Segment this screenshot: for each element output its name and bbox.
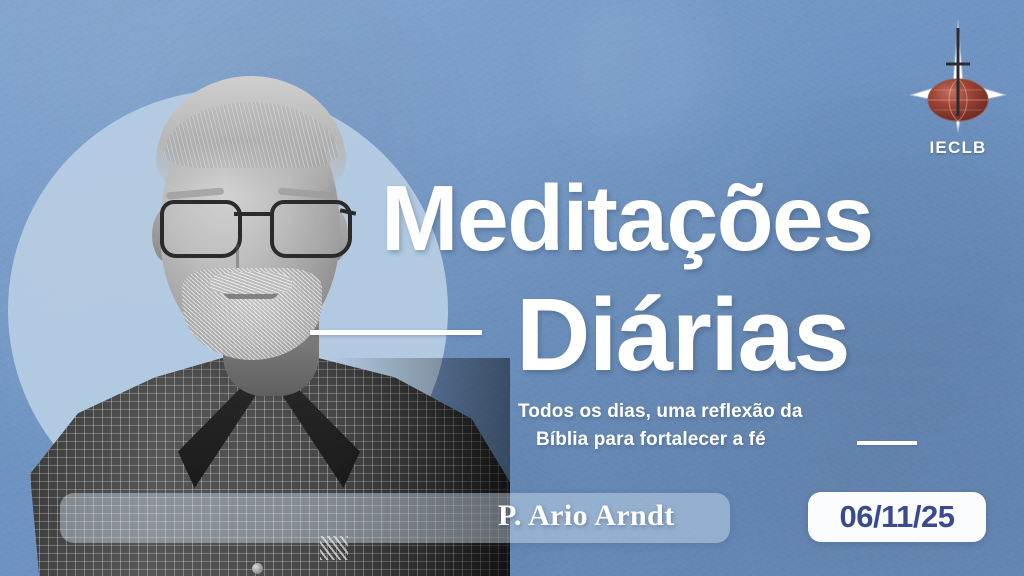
horizontal-rule-right — [857, 441, 917, 445]
speaker-name-label: P. Ario Arndt — [498, 499, 675, 533]
subtitle-line-2: Bíblia para fortalecer a fé — [518, 426, 878, 454]
promo-graphic-canvas: IECLB Meditações Diárias Todos os dias, … — [0, 0, 1024, 576]
title-line-1: Meditações — [381, 172, 873, 265]
date-label: 06/11/25 — [840, 499, 955, 535]
horizontal-rule-left — [310, 330, 482, 335]
date-badge: 06/11/25 — [808, 492, 986, 542]
subtitle-block: Todos os dias, uma reflexão da Bíblia pa… — [518, 398, 878, 453]
subtitle-line-1: Todos os dias, uma reflexão da — [518, 398, 878, 426]
title-line-2: Diárias — [516, 283, 849, 386]
headline-block: Meditações Diárias Todos os dias, uma re… — [0, 0, 1024, 576]
